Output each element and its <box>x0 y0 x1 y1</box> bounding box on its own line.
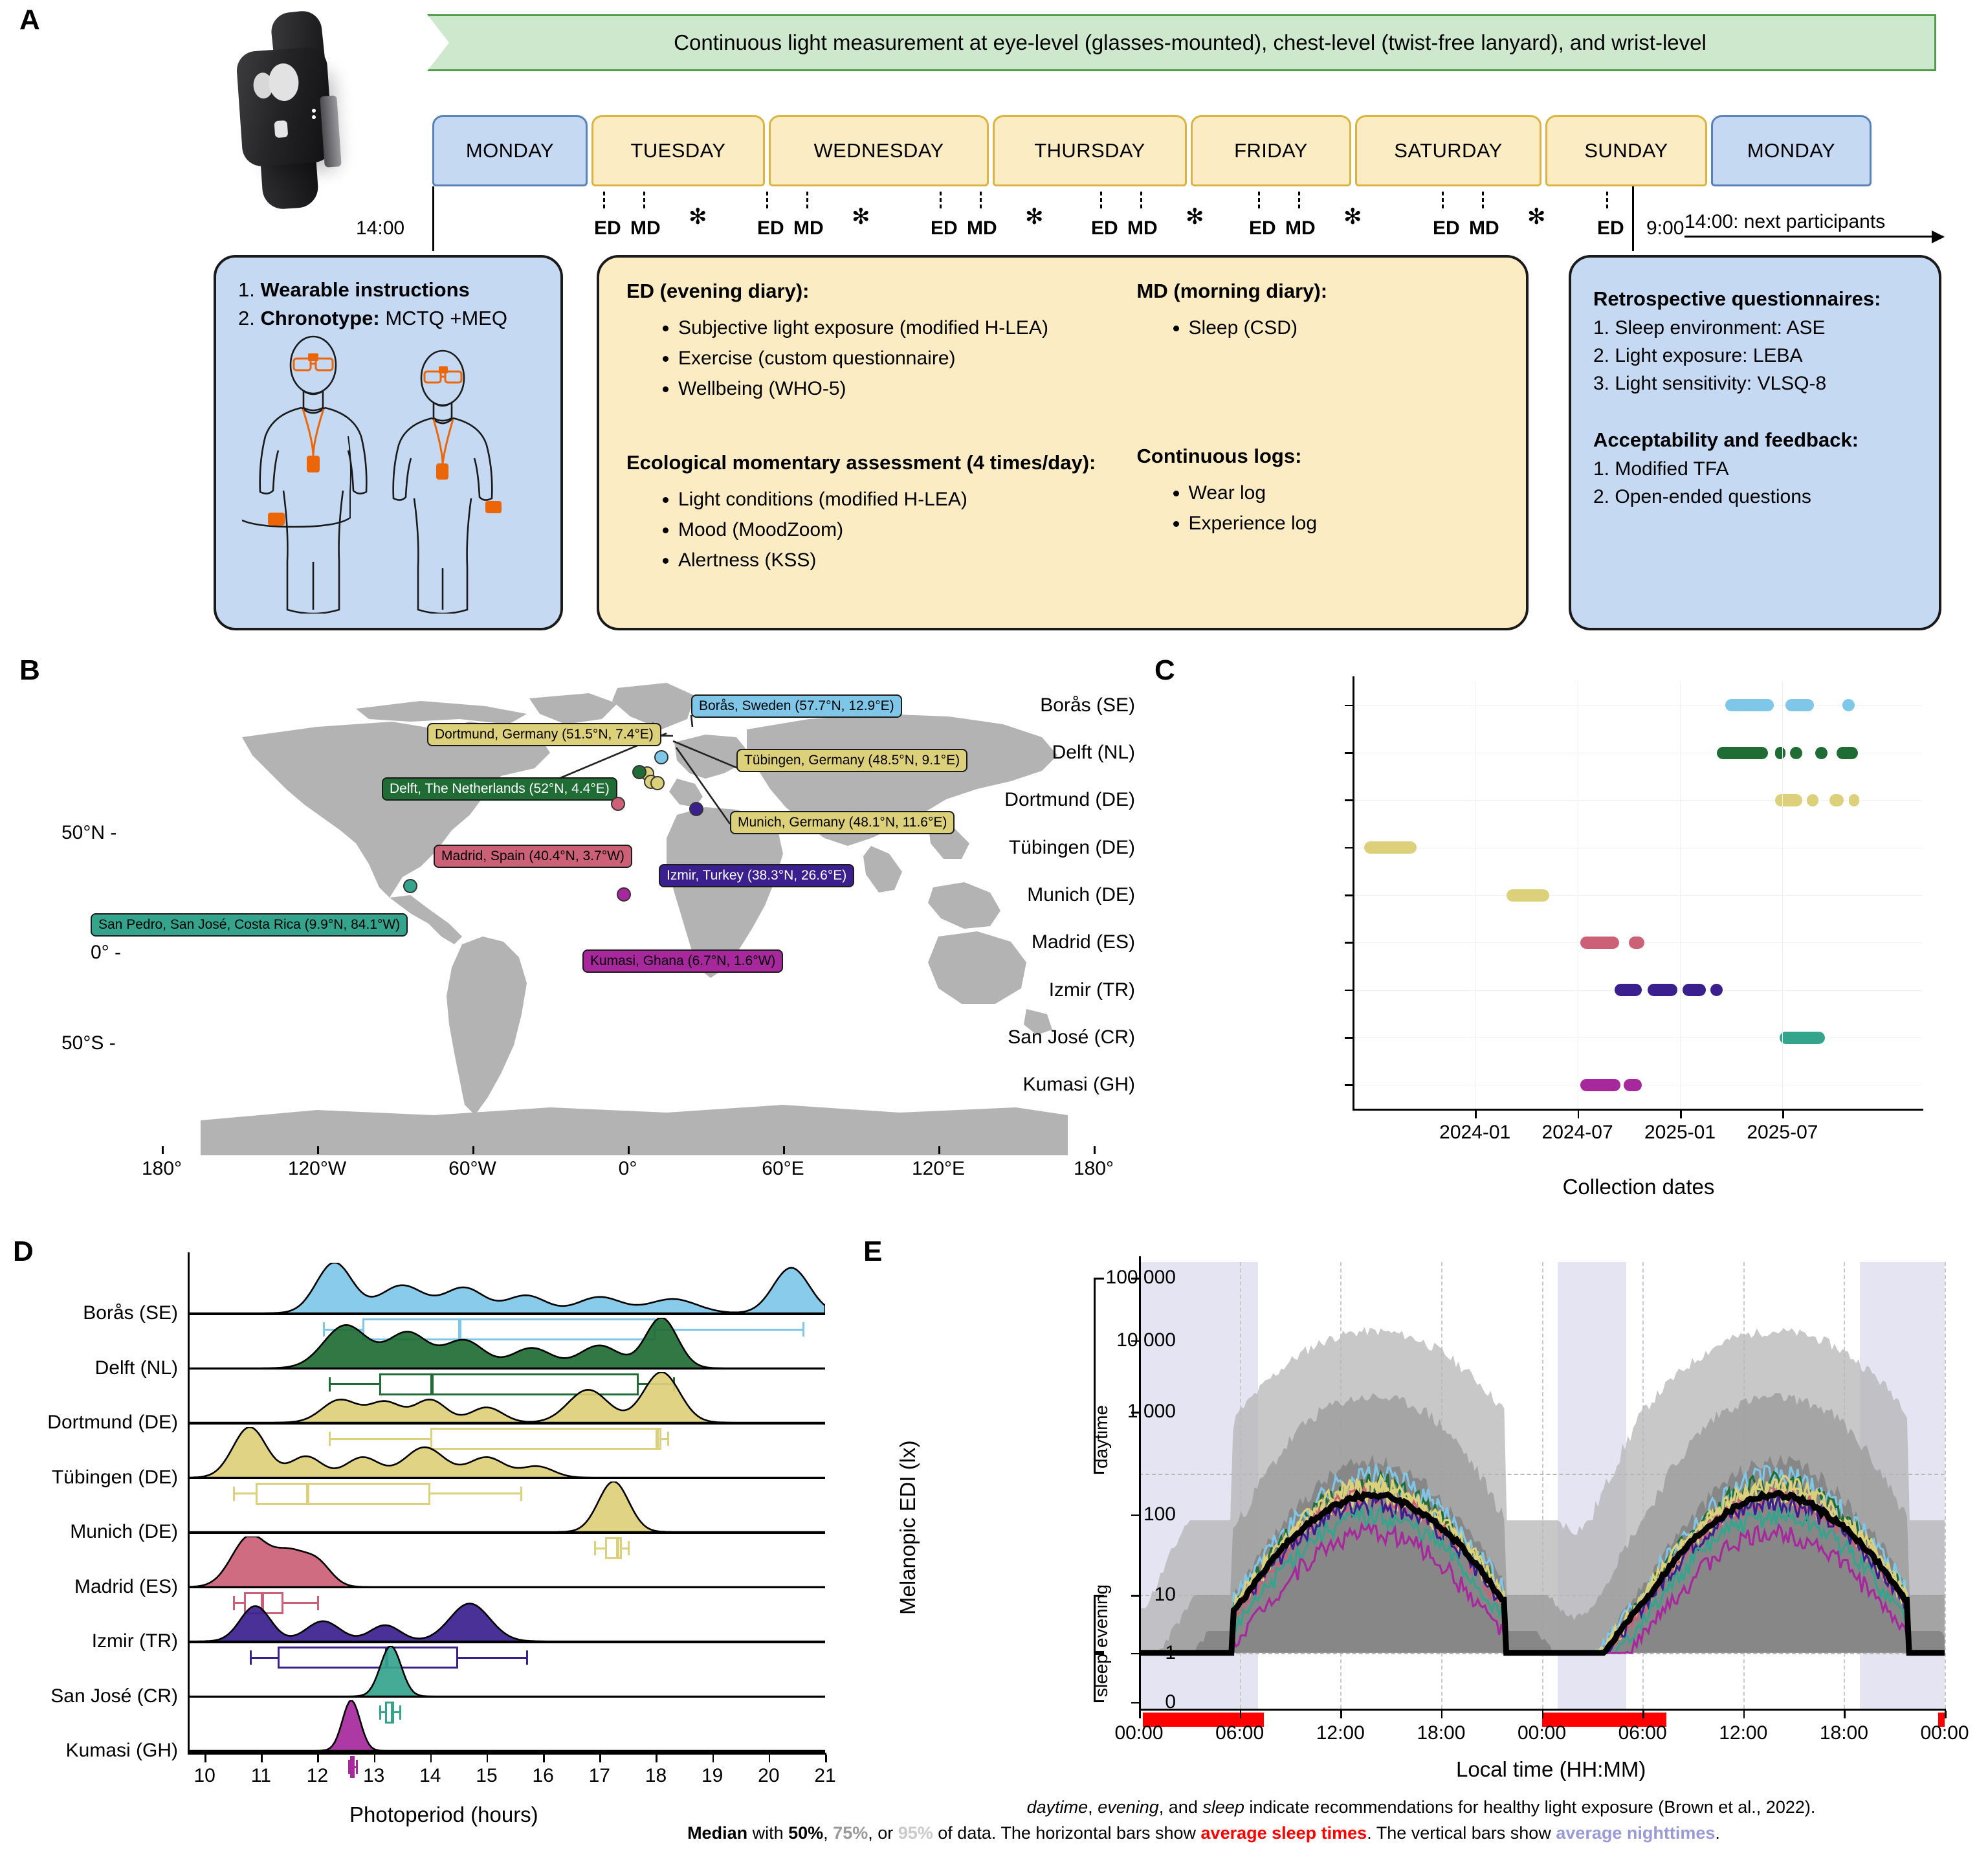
map-xtick-label-0: 180° <box>142 1158 182 1180</box>
panel-d-xtick <box>769 1755 771 1762</box>
weekday-4-friday: FRIDAY <box>1191 115 1351 186</box>
ema-items-list: Light conditions (modified H-LEA)Mood (M… <box>664 485 1137 575</box>
panel-c-xtick <box>1782 1111 1784 1118</box>
panel-c-run-2-2 <box>1829 794 1843 806</box>
cap-sleep: sleep <box>1202 1797 1244 1817</box>
ed-marker-1: ED <box>757 217 784 239</box>
panel-d-density-3 <box>188 1427 825 1478</box>
panel-c-category-7: San José (CR) <box>1008 1026 1135 1048</box>
map-label-0: Borås, Sweden (57.7°N, 12.9°E) <box>691 694 902 718</box>
panel-c-run-1-2 <box>1790 747 1802 759</box>
panel-c-run-6-2 <box>1683 984 1705 996</box>
retrospective-header: Retrospective questionnaires: <box>1593 285 1939 314</box>
panel-d-xtick <box>599 1755 601 1762</box>
panel-d-category-7: San José (CR) <box>50 1685 178 1707</box>
timeline-tick <box>603 192 605 208</box>
md-marker-4: MD <box>1285 217 1316 239</box>
panel-e-xtick-label-8: 00:00 <box>1920 1722 1969 1744</box>
weekday-label: WEDNESDAY <box>813 139 944 162</box>
retro-item-2: 3. Light sensitivity: VLSQ-8 <box>1593 370 1939 397</box>
cap-daytime: daytime <box>1027 1797 1088 1817</box>
ema-star-icon-5: ✻ <box>1527 206 1546 228</box>
retro-item-1: 2. Light exposure: LEBA <box>1593 342 1939 370</box>
panel-e-vgrid-8 <box>1945 1262 1946 1709</box>
panel-e-ytick-label-2: 1 000 <box>1127 1401 1176 1423</box>
timeline-start-marker <box>432 186 434 251</box>
weekday-label: MONDAY <box>1747 139 1835 162</box>
map-label-3: Delft, The Netherlands (52°N, 4.4°E) <box>382 777 617 801</box>
cap-95: 95% <box>898 1823 933 1843</box>
panel-c-run-1-4 <box>1837 747 1858 759</box>
cap-with: with <box>747 1823 788 1843</box>
panel-d-baseline-2 <box>188 1423 825 1425</box>
panel-c-ytick <box>1345 942 1353 944</box>
panel-c-xtick-label-1: 2024-07 <box>1542 1122 1613 1144</box>
melanopic-edi-plot <box>1139 1262 1945 1709</box>
panel-c-run-7-0 <box>1780 1032 1825 1044</box>
cap-sep-2: , and <box>1159 1797 1203 1817</box>
panel-e-ytick-label-3: 100 <box>1143 1503 1176 1526</box>
photoperiod-ridgeline-plot: Borås (SE)Delft (NL)Dortmund (DE)Tübinge… <box>188 1259 825 1751</box>
panel-e-y-title: Melanopic EDI (lx) <box>896 1440 920 1615</box>
logs-header: Continuous logs: <box>1137 445 1526 468</box>
panel-e-xtick <box>1240 1711 1242 1718</box>
panel-d-baseline-5 <box>188 1587 825 1589</box>
panel-d-xtick-label-10: 20 <box>758 1765 779 1787</box>
panel-d-category-6: Izmir (TR) <box>92 1630 178 1652</box>
panel-e-xtick <box>1340 1711 1342 1718</box>
next-participants-arrow: 14:00: next participants <box>1684 211 1943 238</box>
panel-c-run-2-3 <box>1849 794 1859 806</box>
cap-nighttimes: average nighttimes <box>1556 1823 1715 1843</box>
panel-a-middle-box: ED (evening diary): Subjective light exp… <box>597 255 1529 630</box>
device-body <box>236 46 334 167</box>
panel-d-baseline-7 <box>188 1696 825 1698</box>
panel-c-run-6-0 <box>1615 984 1642 996</box>
panel-c-category-4: Munich (DE) <box>1027 884 1135 906</box>
panel-c-run-0-1 <box>1785 699 1814 711</box>
map-xtick-label-2: 60°W <box>448 1158 496 1180</box>
accept-item-0: 1. Modified TFA <box>1593 455 1939 483</box>
cap-or: , or <box>868 1823 898 1843</box>
panel-e-letter: E <box>863 1236 882 1268</box>
map-dot-7 <box>403 879 417 893</box>
ed-item-2: Wellbeing (WHO-5) <box>678 374 1137 403</box>
collection-dates-plot: Borås (SE)Delft (NL)Dortmund (DE)Tübinge… <box>1353 682 1922 1109</box>
panel-c-vgrid <box>1782 682 1783 1109</box>
panel-d-xtick-label-11: 21 <box>814 1765 835 1787</box>
map-dot-5 <box>611 797 625 811</box>
panel-d-baseline-6 <box>188 1641 825 1643</box>
panel-c-category-3: Tübingen (DE) <box>1009 837 1135 859</box>
zone-label-evening: evening <box>1091 1584 1112 1648</box>
panel-e-xtick-label-1: 06:00 <box>1215 1722 1264 1744</box>
timeline-tick <box>1298 192 1300 208</box>
ema-star-icon-4: ✻ <box>1343 206 1362 228</box>
panel-c-xtick <box>1578 1111 1580 1118</box>
panel-d-baseline-1 <box>188 1368 825 1370</box>
median <box>351 1756 355 1778</box>
map-xtick-label-4: 60°E <box>762 1158 804 1180</box>
panel-e-ytick-label-1: 10 000 <box>1116 1329 1176 1351</box>
panel-d-density-2 <box>188 1372 825 1423</box>
panel-d-xtick-label-3: 13 <box>363 1765 384 1787</box>
map-xtick <box>1094 1146 1096 1154</box>
panel-c-gridline <box>1353 895 1922 896</box>
panel-c-gridline <box>1353 1037 1922 1038</box>
ed-marker-4: ED <box>1249 217 1276 239</box>
weekday-6-sunday: SUNDAY <box>1545 115 1707 186</box>
timeline-tick <box>1140 192 1142 208</box>
panel-d-baseline-4 <box>188 1532 825 1534</box>
panel-e-x-title: Local time (HH:MM) <box>1456 1757 1646 1782</box>
md-items-list: Sleep (CSD) <box>1175 313 1526 342</box>
cap-c1: , <box>823 1823 833 1843</box>
panel-d-density-8 <box>188 1700 825 1751</box>
panel-c-ytick <box>1345 705 1353 707</box>
weekday-strip: MONDAYTUESDAYWEDNESDAYTHURSDAYFRIDAYSATU… <box>432 115 1872 186</box>
study-timeline: 14:00 9:00 14:00: next participants EDMD… <box>432 186 1947 255</box>
panel-c-run-1-0 <box>1717 747 1768 759</box>
panel-c-category-2: Dortmund (DE) <box>1004 789 1135 811</box>
panel-c-category-8: Kumasi (GH) <box>1023 1074 1135 1096</box>
panel-e-xtick-label-4: 00:00 <box>1518 1722 1566 1744</box>
cap-mid: of data. The horizontal bars show <box>933 1823 1201 1843</box>
panel-c-xtick <box>1680 1111 1682 1118</box>
retro-item-0: 1. Sleep environment: ASE <box>1593 314 1939 342</box>
weekday-1-tuesday: TUESDAY <box>591 115 765 186</box>
measurement-banner-text: Continuous light measurement at eye-leve… <box>657 30 1706 55</box>
map-xtick-label-6: 180° <box>1074 1158 1114 1180</box>
panel-d-baseline-0 <box>188 1313 825 1315</box>
panel-e-xtick <box>1844 1711 1846 1718</box>
panel-c-category-6: Izmir (TR) <box>1049 979 1135 1001</box>
weekday-3-thursday: THURSDAY <box>993 115 1187 186</box>
map-label-1: Dortmund, Germany (51.5°N, 7.4°E) <box>427 723 661 746</box>
panel-d-baseline-3 <box>188 1478 825 1480</box>
item-2-number: 2. <box>238 307 255 329</box>
panel-e-xtick-label-5: 06:00 <box>1618 1722 1667 1744</box>
panel-c-run-0-0 <box>1725 699 1774 711</box>
panel-c-run-8-1 <box>1624 1079 1642 1091</box>
device-button-icon <box>274 120 289 138</box>
panel-e-xtick <box>1542 1711 1544 1718</box>
panel-c-category-1: Delft (NL) <box>1052 742 1135 764</box>
panel-d-xtick <box>374 1755 376 1762</box>
timeline-tick <box>1258 192 1260 208</box>
panel-c-xtick-label-3: 2025-07 <box>1747 1122 1818 1144</box>
panel-c-run-1-1 <box>1775 747 1785 759</box>
weekday-0-monday: MONDAY <box>432 115 588 186</box>
map-label-6: Izmir, Turkey (38.3°N, 26.6°E) <box>659 864 854 887</box>
map-xtick-label-5: 120°E <box>912 1158 965 1180</box>
map-dot-0 <box>654 750 668 764</box>
panel-d-category-3: Tübingen (DE) <box>52 1467 178 1489</box>
ed-items-list: Subjective light exposure (modified H-LE… <box>664 313 1137 403</box>
arrow-right-icon <box>1684 236 1943 238</box>
panel-c-run-1-3 <box>1815 747 1828 759</box>
map-dot-3 <box>632 765 646 779</box>
panel-c-ytick <box>1345 894 1353 896</box>
panel-e-xtick <box>1139 1711 1141 1718</box>
weekday-label: MONDAY <box>466 139 554 162</box>
panel-d-xtick <box>487 1755 489 1762</box>
md-marker-5: MD <box>1469 217 1499 239</box>
cap-evening: evening <box>1098 1797 1159 1817</box>
weekday-2-wednesday: WEDNESDAY <box>769 115 989 186</box>
panel-c-ytick <box>1345 1084 1353 1086</box>
panel-d-xtick <box>204 1755 206 1762</box>
timeline-end-time: 9:00 <box>1646 217 1684 239</box>
log-item-0: Wear log <box>1189 478 1526 507</box>
md-marker-2: MD <box>967 217 997 239</box>
panel-e-ytick-label-6: 0 <box>1165 1691 1176 1713</box>
panel-c-run-5-0 <box>1580 937 1619 949</box>
panel-c-run-6-1 <box>1648 984 1677 996</box>
panel-c-vgrid <box>1475 682 1475 1109</box>
panel-d-letter: D <box>13 1236 34 1268</box>
panel-d-category-5: Madrid (ES) <box>74 1576 178 1598</box>
map-xtick <box>628 1146 630 1154</box>
panel-e-caption-line-2: Median with 50%, 75%, or 95% of data. Th… <box>421 1823 1987 1843</box>
panel-d-category-2: Dortmund (DE) <box>47 1412 178 1434</box>
map-label-5: Madrid, Spain (40.4°N, 3.7°W) <box>434 845 632 868</box>
panel-c-gridline <box>1353 705 1922 706</box>
device-sensor-large-icon <box>267 62 300 102</box>
weekday-label: SATURDAY <box>1394 139 1502 162</box>
md-marker-3: MD <box>1127 217 1158 239</box>
ed-marker-3: ED <box>1091 217 1118 239</box>
ema-star-icon-0: ✻ <box>689 206 707 228</box>
ed-marker-0: ED <box>594 217 621 239</box>
panel-e-xtick <box>1441 1711 1443 1718</box>
map-xtick <box>317 1146 319 1154</box>
panel-c-ytick <box>1345 990 1353 992</box>
md-item-0: Sleep (CSD) <box>1189 313 1526 342</box>
item-2-rest: MCTQ +MEQ <box>380 307 507 329</box>
panel-c-vgrid <box>1578 682 1578 1109</box>
cap-sep-1: , <box>1088 1797 1098 1817</box>
map-xtick <box>162 1146 164 1154</box>
panel-e-xtick-label-2: 12:00 <box>1316 1722 1365 1744</box>
panel-c-y-axis <box>1353 676 1354 1111</box>
map-xtick <box>783 1146 785 1154</box>
ema-header: Ecological momentary assessment (4 times… <box>626 451 1137 474</box>
ema-star-icon-1: ✻ <box>852 206 870 228</box>
md-header: MD (morning diary): <box>1137 280 1526 303</box>
cap-75: 75% <box>833 1823 868 1843</box>
panel-c-xtick-label-0: 2024-01 <box>1439 1122 1510 1144</box>
weekday-label: THURSDAY <box>1034 139 1145 162</box>
map-xtick <box>938 1146 940 1154</box>
ema-star-icon-3: ✻ <box>1186 206 1204 228</box>
panel-d-xtick <box>656 1755 657 1762</box>
panel-e-xtick-label-0: 00:00 <box>1114 1722 1163 1744</box>
timeline-start-time: 14:00 <box>356 217 404 239</box>
panel-d-category-8: Kumasi (GH) <box>66 1740 178 1762</box>
map-label-2: Tübingen, Germany (48.5°N, 9.1°E) <box>736 749 967 772</box>
zone-label-sleep: sleep <box>1091 1654 1112 1697</box>
panel-a: A Continuous light measurement at eye-le… <box>0 0 1988 647</box>
ed-header: ED (evening diary): <box>626 280 1137 303</box>
panel-d-xtick <box>825 1755 827 1762</box>
cap-end: . <box>1715 1823 1720 1843</box>
timeline-end-marker <box>1632 186 1634 251</box>
cap-sleep-times: average sleep times <box>1201 1823 1367 1843</box>
weekday-label: SUNDAY <box>1584 139 1668 162</box>
panel-e-xtick-label-3: 18:00 <box>1417 1722 1465 1744</box>
zone-label-daytime: daytime <box>1091 1405 1112 1469</box>
timeline-tick <box>940 192 942 208</box>
panel-c-run-8-0 <box>1580 1079 1620 1091</box>
panel-d-xtick-label-1: 11 <box>251 1765 271 1787</box>
panel-d-xtick-label-6: 16 <box>532 1765 553 1787</box>
panel-d-xtick <box>430 1755 432 1762</box>
item-1-number: 1. <box>238 278 255 301</box>
panel-d-xtick-label-8: 18 <box>645 1765 667 1787</box>
map-ytick-50s: 50°S - <box>61 1032 1139 1054</box>
panel-d-density-4 <box>188 1481 825 1532</box>
panel-d-category-4: Munich (DE) <box>70 1521 178 1543</box>
timeline-tick <box>1442 192 1444 208</box>
panel-c-run-6-3 <box>1710 984 1723 996</box>
panel-c-category-0: Borås (SE) <box>1040 694 1135 716</box>
panel-d-xtick-label-2: 12 <box>307 1765 328 1787</box>
panel-d-density-1 <box>188 1318 825 1368</box>
panel-c-ytick <box>1345 799 1353 801</box>
panel-e-ytick <box>1131 1702 1139 1704</box>
whisker-cap-1 <box>356 1760 358 1774</box>
device-led-dots-icon <box>312 109 316 113</box>
panel-c: C Borås (SE)Delft (NL)Dortmund (DE)Tübin… <box>1139 650 1988 1233</box>
panel-e-xtick <box>1743 1711 1745 1718</box>
panel-d: D Borås (SE)Delft (NL)Dortmund (DE)Tübin… <box>0 1233 854 1864</box>
panel-e-caption-line-1: daytime, evening, and sleep indicate rec… <box>854 1797 1988 1817</box>
panel-c-xtick <box>1475 1111 1477 1118</box>
panel-d-y-axis <box>188 1252 190 1754</box>
panel-d-xtick <box>317 1755 319 1762</box>
ed-marker-5: ED <box>1433 217 1460 239</box>
panel-c-run-0-2 <box>1842 699 1855 711</box>
item-2-bold: Chronotype: <box>260 307 379 329</box>
panel-c-run-3-0 <box>1364 841 1417 854</box>
ema-item-0: Light conditions (modified H-LEA) <box>678 485 1137 514</box>
map-dot-8 <box>617 887 631 902</box>
panel-c-run-4-0 <box>1507 889 1549 902</box>
panel-d-xtick <box>712 1755 714 1762</box>
panel-e-xtick <box>1945 1711 1947 1718</box>
panel-e-series-canvas <box>1139 1262 1945 1709</box>
panel-b-letter: B <box>19 654 40 687</box>
weekday-7-monday: MONDAY <box>1711 115 1872 186</box>
panel-e: E Melanopic EDI (lx) 100 00010 0001 0001… <box>854 1233 1988 1864</box>
left-box-item-2: 2. Chronotype: MCTQ +MEQ <box>238 304 560 333</box>
weekday-5-saturday: SATURDAY <box>1355 115 1541 186</box>
panel-c-vgrid <box>1680 682 1681 1109</box>
ed-item-1: Exercise (custom questionnaire) <box>678 344 1137 373</box>
wearable-device-image <box>214 12 382 199</box>
ema-star-icon-2: ✻ <box>1025 206 1044 228</box>
cap-50: 50% <box>788 1823 823 1843</box>
panel-d-xtick-label-0: 10 <box>193 1765 215 1787</box>
map-xtick-label-3: 0° <box>619 1158 637 1180</box>
panel-d-density-6 <box>188 1591 825 1641</box>
retrospective-list: 1. Sleep environment: ASE2. Light exposu… <box>1593 314 1939 398</box>
panel-e-y-axis <box>1139 1256 1141 1709</box>
panel-d-xtick-label-4: 14 <box>419 1765 441 1787</box>
ed-item-0: Subjective light exposure (modified H-LE… <box>678 313 1137 342</box>
panel-e-ytick <box>1131 1514 1139 1516</box>
timeline-tick <box>766 192 768 208</box>
panel-e-ytick-label-5: 1 <box>1165 1642 1176 1664</box>
panel-d-boxplot-8 <box>188 1756 825 1778</box>
timeline-tick <box>980 192 982 208</box>
panel-c-category-5: Madrid (ES) <box>1032 931 1135 953</box>
panel-a-letter: A <box>19 4 40 36</box>
md-marker-0: MD <box>630 217 661 239</box>
cap-median: Median <box>687 1823 747 1843</box>
panel-c-run-2-0 <box>1775 794 1802 806</box>
panel-e-ytick-label-0: 100 000 <box>1106 1267 1176 1289</box>
panel-e-ytick <box>1131 1653 1139 1655</box>
panel-e-ytick <box>1131 1595 1139 1597</box>
panel-c-ytick <box>1345 1037 1353 1039</box>
whisker-cap-0 <box>348 1760 350 1774</box>
map-label-4: Munich, Germany (48.1°N, 11.6°E) <box>730 811 955 834</box>
ed-marker-6: ED <box>1597 217 1624 239</box>
panel-c-letter: C <box>1154 654 1175 687</box>
panel-e-ytick-label-4: 10 <box>1154 1584 1176 1606</box>
panel-c-xtick-label-2: 2025-01 <box>1644 1122 1716 1144</box>
map-dot-4 <box>650 776 665 790</box>
acceptability-list: 1. Modified TFA2. Open-ended questions <box>1593 455 1939 511</box>
timeline-tick <box>1606 192 1608 208</box>
panel-d-density-5 <box>188 1537 825 1587</box>
ema-item-2: Alertness (KSS) <box>678 546 1137 575</box>
weekday-label: FRIDAY <box>1234 139 1308 162</box>
cap-rest-1: indicate recommendations for healthy lig… <box>1244 1797 1815 1817</box>
panel-d-category-0: Borås (SE) <box>83 1302 178 1324</box>
timeline-tick <box>806 192 808 208</box>
panel-e-xtick <box>1642 1711 1644 1718</box>
panel-d-xtick <box>261 1755 263 1762</box>
left-box-item-1: 1. Wearable instructions <box>238 276 560 304</box>
panel-e-xtick-label-7: 18:00 <box>1820 1722 1868 1744</box>
cap-mid2: . The vertical bars show <box>1367 1823 1556 1843</box>
panel-c-x-title: Collection dates <box>1563 1175 1715 1199</box>
weekday-label: TUESDAY <box>631 139 726 162</box>
panel-a-right-box: Retrospective questionnaires: 1. Sleep e… <box>1569 255 1941 630</box>
md-marker-1: MD <box>793 217 824 239</box>
panel-d-density-7 <box>188 1646 825 1696</box>
map-ytick-50n: 50°N - <box>61 822 1139 844</box>
panel-d-x-axis <box>188 1753 826 1755</box>
panel-e-xtick-label-6: 12:00 <box>1719 1722 1767 1744</box>
panel-b: B <box>0 650 1139 1207</box>
ema-item-1: Mood (MoodZoom) <box>678 515 1137 544</box>
panel-c-ytick <box>1345 847 1353 849</box>
next-participants-label: 14:00: next participants <box>1684 211 1943 233</box>
panel-c-run-2-1 <box>1807 794 1818 806</box>
panel-c-gridline <box>1353 848 1922 849</box>
map-label-8: Kumasi, Ghana (6.7°N, 1.6°W) <box>582 949 783 973</box>
panel-d-xtick <box>543 1755 545 1762</box>
panel-a-left-box: 1. Wearable instructions 2. Chronotype: … <box>214 255 563 630</box>
panel-c-ytick <box>1345 752 1353 754</box>
accept-item-1: 2. Open-ended questions <box>1593 483 1939 511</box>
ed-marker-2: ED <box>931 217 958 239</box>
item-1-bold: Wearable instructions <box>260 278 469 301</box>
